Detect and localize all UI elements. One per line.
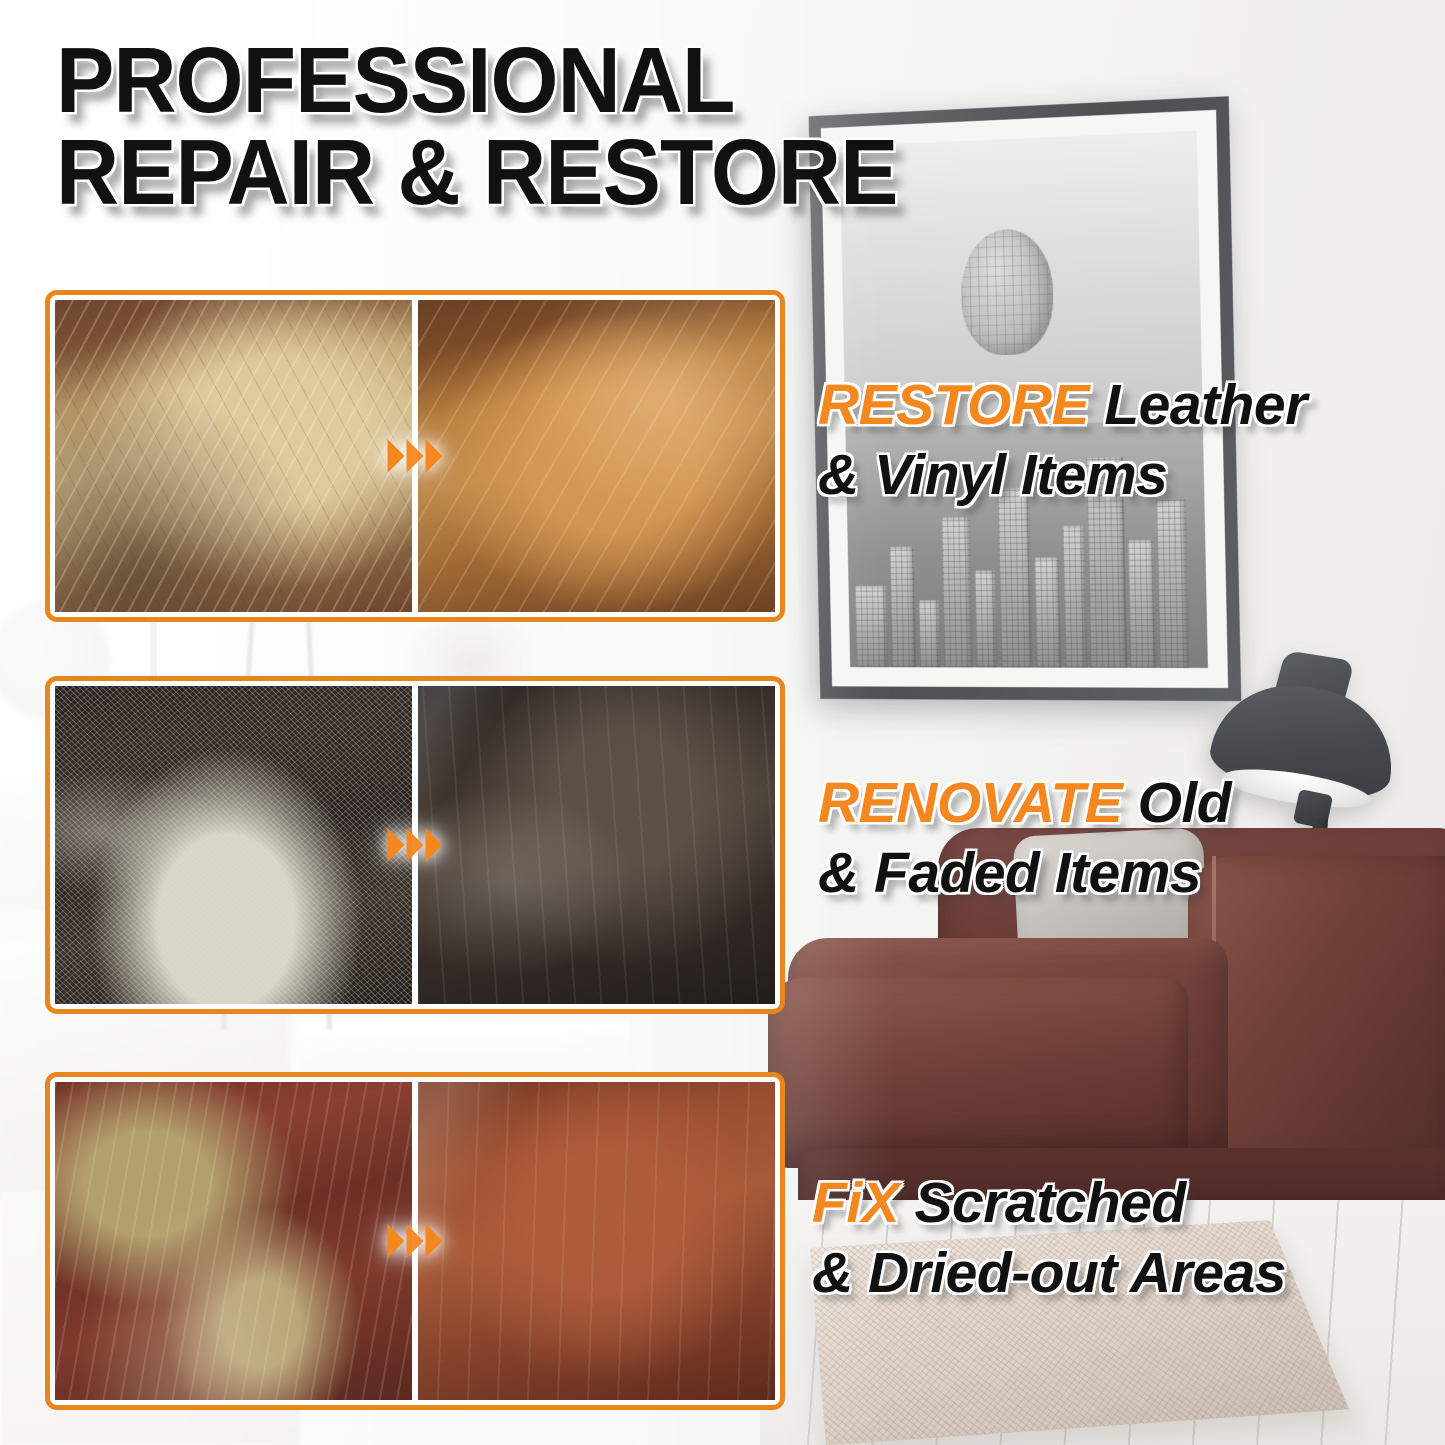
before-image-1 [55,300,412,612]
chevron-right-icon [407,439,424,473]
claim-renovate-line-1: RENOVATE Old [818,772,1231,836]
page-title: PROFESSIONAL REPAIR & RESTORE [56,34,1109,218]
claim-renovate-line-2: & Faded Items [818,842,1231,906]
chevron-right-icon [407,828,424,862]
chevron-right-icon [407,1224,424,1258]
claim-restore-line-2: & Vinyl Items [818,444,1307,508]
claim-restore-line-1: RESTORE Leather [818,374,1307,438]
claim-restore-keyword: RESTORE [818,373,1089,437]
claim-renovate: RENOVATE Old & Faded Items [818,772,1231,906]
transformation-arrow-2 [388,828,443,862]
claim-fix-keyword: FiX [812,1171,899,1235]
headline-line-2: REPAIR & RESTORE [56,126,1109,218]
comparison-panel-1 [45,290,785,622]
transformation-arrow-3 [388,1224,443,1258]
comparison-panel-3 [45,1072,785,1410]
chevron-right-icon [426,439,443,473]
ad-canvas: PROFESSIONAL REPAIR & RESTORE [0,0,1445,1445]
claim-restore-rest: Leather [1089,373,1307,437]
claim-fix-rest: Scratched [899,1171,1185,1235]
after-image-1 [418,300,775,612]
chevron-right-icon [388,439,405,473]
chevron-right-icon [388,1224,405,1258]
claim-renovate-rest: Old [1122,771,1231,835]
claim-restore: RESTORE Leather & Vinyl Items [818,374,1307,508]
transformation-arrow-1 [388,439,443,473]
headline-line-1: PROFESSIONAL [56,28,734,132]
before-image-2 [55,686,412,1004]
claim-fix-line-1: FiX Scratched [812,1172,1286,1236]
before-image-3 [55,1082,412,1400]
claim-fix: FiX Scratched & Dried-out Areas [812,1172,1286,1306]
claim-fix-line-2: & Dried-out Areas [812,1242,1286,1306]
after-image-3 [418,1082,775,1400]
claim-renovate-keyword: RENOVATE [818,771,1122,835]
after-image-2 [418,686,775,1004]
chevron-right-icon [426,1224,443,1258]
chevron-right-icon [388,828,405,862]
chevron-right-icon [426,828,443,862]
comparison-panel-2 [45,676,785,1014]
